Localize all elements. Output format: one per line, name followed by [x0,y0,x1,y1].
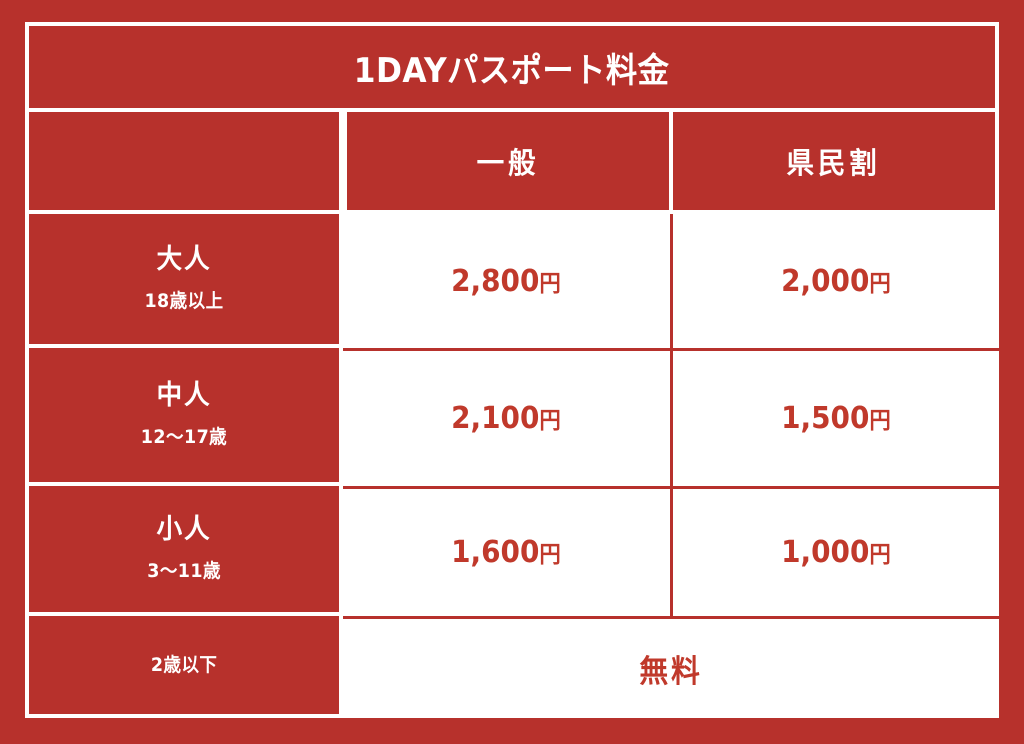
price-unit: 円 [869,408,890,434]
price-cell-middle-general: 2,100円 [343,348,673,486]
page-title: 1DAYパスポート料金 [354,43,670,92]
price-middle-general: 2,100円 [451,401,561,436]
price-adult-general: 2,800円 [451,264,561,299]
row-label-middle: 中人 12〜17歳 [25,348,343,486]
price-unit: 円 [540,542,561,568]
price-amount: 無料 [639,654,702,690]
row-label-middle-age: 12〜17歳 [141,422,227,449]
price-cell-adult-general: 2,800円 [343,214,673,348]
column-header-resident: 県民割 [669,112,999,214]
price-unit: 円 [540,408,561,434]
price-unit: 円 [540,271,561,297]
row-label-infant: 2歳以下 [25,616,343,718]
price-cell-child-general: 1,600円 [343,486,673,616]
header-corner-cell [25,112,343,214]
price-amount: 1,500 [781,401,869,436]
price-cell-middle-resident: 1,500円 [673,348,1000,486]
price-cell-adult-resident: 2,000円 [673,214,1000,348]
row-label-child: 小人 3〜11歳 [25,486,343,616]
price-unit: 円 [869,542,890,568]
row-label-infant-name: 2歳以下 [151,655,217,676]
table-row: 大人 18歳以上 2,800円 2,000円 [25,214,999,348]
price-child-resident: 1,000円 [781,535,891,570]
column-header-resident-label: 県民割 [787,140,881,182]
price-child-general: 1,600円 [451,535,561,570]
row-label-child-age: 3〜11歳 [147,556,221,583]
table-row: 2歳以下 無料 [25,616,999,718]
price-unit: 円 [869,271,890,297]
row-label-adult-name: 大人 [156,245,211,275]
row-label-adult-age: 18歳以上 [144,286,223,313]
price-amount: 1,000 [781,535,869,570]
column-header-general: 一般 [343,112,669,214]
price-amount: 1,600 [451,535,539,570]
price-middle-resident: 1,500円 [781,401,891,436]
price-amount: 2,100 [451,401,539,436]
table-title-banner: 1DAYパスポート料金 [25,22,999,112]
table-row: 小人 3〜11歳 1,600円 1,000円 [25,486,999,616]
column-header-general-label: 一般 [477,140,540,182]
row-label-child-name: 小人 [156,515,211,545]
price-amount: 2,000 [781,264,869,299]
table-header-row: 一般 県民割 [25,112,999,214]
price-infant-free: 無料 [639,646,702,691]
price-adult-resident: 2,000円 [781,264,891,299]
row-label-middle-name: 中人 [156,381,211,411]
price-cell-infant-merged: 無料 [343,616,999,718]
price-cell-child-resident: 1,000円 [673,486,1000,616]
price-amount: 2,800 [451,264,539,299]
price-table: 1DAYパスポート料金 一般 県民割 大人 18歳以上 2,800円 2,000… [25,22,999,722]
row-label-adult: 大人 18歳以上 [25,214,343,348]
table-row: 中人 12〜17歳 2,100円 1,500円 [25,348,999,486]
